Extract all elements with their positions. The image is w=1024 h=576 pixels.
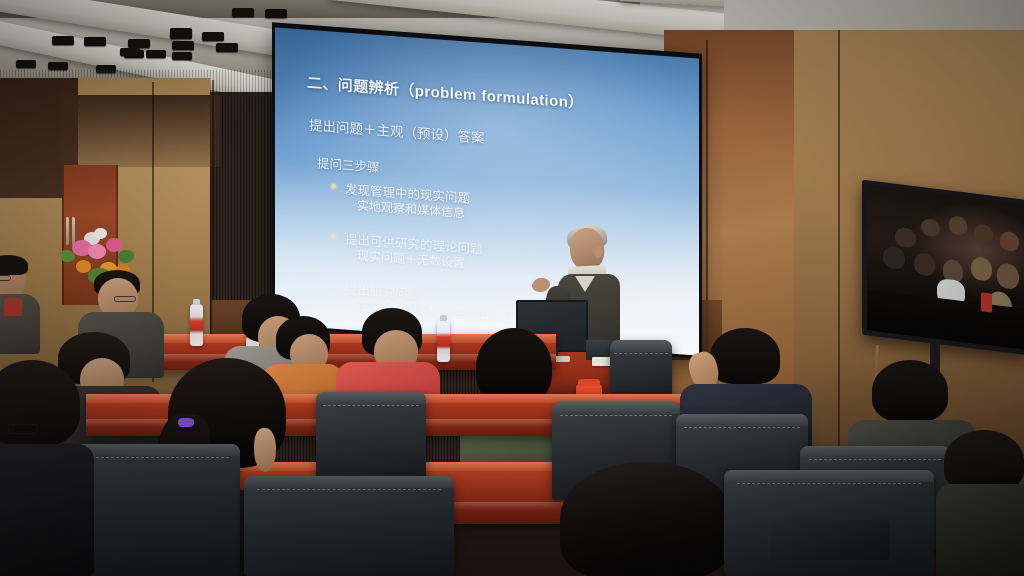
ceiling-spotlight-icon — [265, 9, 287, 18]
face-profile — [254, 428, 276, 472]
chair-mid-1 — [316, 392, 426, 488]
ceiling-spotlight-icon — [172, 52, 192, 60]
slide-surface: 二、问题辨析（problem formulation） 提出问题＋主观（预设）答… — [275, 27, 699, 355]
bullet-dot-icon — [331, 284, 336, 289]
ceiling-spotlight-icon — [84, 37, 106, 46]
audience-member-person-front-left — [0, 360, 94, 576]
water-bottle — [190, 304, 203, 346]
hair — [944, 430, 1024, 492]
tv-camera-feed — [867, 185, 1024, 349]
wall-mounted-tv — [862, 180, 1024, 356]
ceiling-spotlight-icon — [48, 62, 68, 70]
audience-member-person-front-center — [560, 462, 740, 576]
collar-accent — [4, 298, 22, 316]
presenter-ear — [594, 246, 603, 258]
ceiling-spotlight-icon — [120, 48, 140, 56]
slide-subtitle: 提出问题＋主观（预设）答案 — [309, 114, 485, 147]
projection-screen: 二、问题辨析（problem formulation） 提出问题＋主观（预设）答… — [272, 22, 702, 359]
eyeglasses-icon — [8, 424, 38, 434]
audience-member-man-glasses-left-rear — [0, 258, 50, 348]
hair — [710, 328, 780, 384]
ceiling-spotlight-icon — [172, 41, 194, 50]
left-wall-header-band — [60, 95, 220, 167]
ceiling-spotlight-icon — [232, 8, 254, 17]
hair-tie — [178, 418, 194, 427]
ceiling-spotlight-icon — [216, 43, 238, 52]
eyeglasses-icon — [0, 275, 11, 281]
slide-title-cn: 二、问题辨析 — [307, 75, 399, 99]
ceiling-spotlight-icon — [16, 60, 36, 68]
torso — [0, 444, 94, 576]
ceiling-spotlight-icon — [146, 50, 166, 58]
hair — [0, 255, 28, 275]
bullet-dot-icon — [331, 234, 336, 239]
slide-lead-line: 提问三步骤 — [317, 153, 380, 177]
slide-title: 二、问题辨析（problem formulation） — [307, 72, 584, 113]
ceiling-spotlight-icon — [202, 32, 224, 41]
torso — [936, 484, 1024, 576]
water-bottle — [437, 320, 450, 362]
eyeglasses-icon — [114, 296, 136, 302]
wall-seam — [838, 30, 840, 510]
hair — [872, 360, 948, 422]
slide-title-en: （problem formulation） — [399, 82, 583, 113]
audience-member-right-front — [944, 430, 1024, 576]
bag-on-seat — [770, 520, 890, 560]
chair-front-center — [244, 476, 454, 576]
hair — [560, 462, 732, 576]
ceiling-spotlight-icon — [128, 39, 150, 48]
ceiling-spotlight-icon — [52, 36, 74, 45]
lecture-hall-photo: 二、问题辨析（problem formulation） 提出问题＋主观（预设）答… — [0, 0, 1024, 576]
ceiling-spotlight-icon — [170, 30, 192, 39]
bullet-dot-icon — [331, 184, 336, 189]
